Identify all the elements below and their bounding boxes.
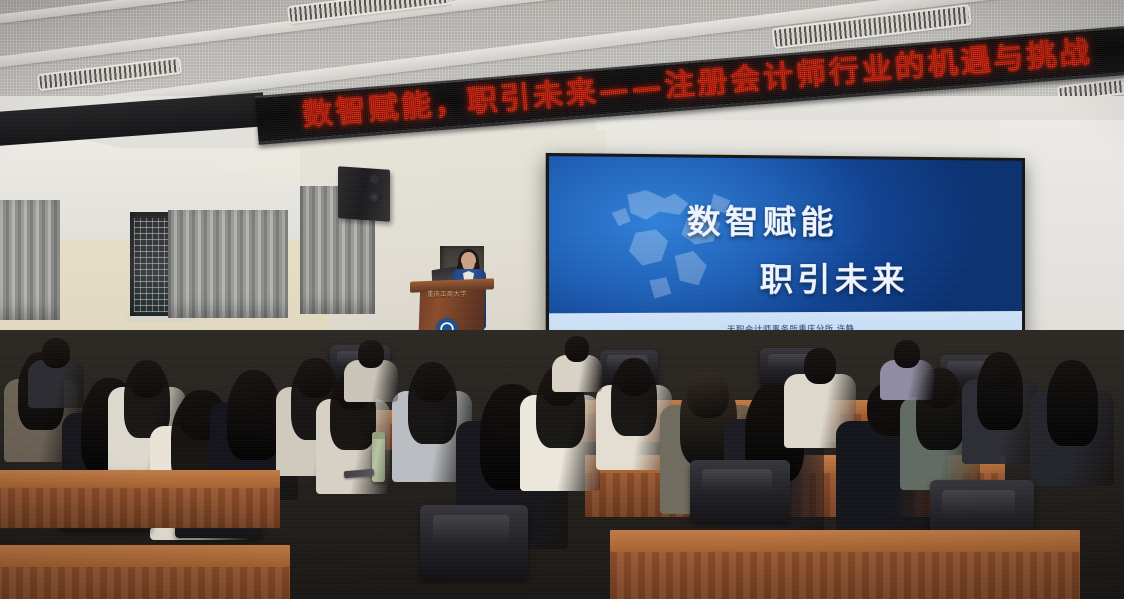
attendee-6-head xyxy=(234,370,274,414)
attendee-18-head xyxy=(983,352,1017,390)
slide-title-line2: 职引未来 xyxy=(640,253,1022,301)
lecture-hall-photo: 数智赋能，职引未来——注册会计师行业的机遇与挑战 数智赋能 职引未来 xyxy=(0,0,1124,599)
slide-title-line1: 数智赋能 xyxy=(549,194,1022,244)
attendee-22-head xyxy=(894,340,920,368)
attendee-9-head xyxy=(414,362,450,402)
attendee-22 xyxy=(880,340,934,400)
attendee-3-head xyxy=(42,338,70,368)
attendee-15-head xyxy=(804,348,836,384)
slide-title-block: 数智赋能 职引未来 xyxy=(549,194,1022,301)
attendee-20-head xyxy=(358,340,384,368)
curtain xyxy=(168,210,288,318)
chair-4 xyxy=(690,460,790,522)
attendee-12-head xyxy=(617,358,651,396)
attendee-3 xyxy=(28,338,84,408)
wall-speaker-icon xyxy=(338,166,390,222)
attendee-13-head xyxy=(687,372,729,418)
curtain xyxy=(0,200,60,320)
desk-row-front-left-top xyxy=(0,545,290,567)
desk-row-front-right-top xyxy=(610,530,1080,552)
desk-row-front-right xyxy=(610,552,1080,599)
podium-plaque-text: 重庆工商大学 xyxy=(422,289,472,298)
desk-row-mid-left xyxy=(0,488,280,528)
attendee-19-head xyxy=(1053,360,1091,402)
attendee-21 xyxy=(552,336,602,392)
desk-row-mid-left-top xyxy=(0,470,280,488)
attendee-19 xyxy=(1030,360,1114,486)
desk-row-front-left xyxy=(0,567,290,599)
chair-3 xyxy=(420,505,528,579)
attendee-18 xyxy=(962,352,1038,464)
attendee-21-head xyxy=(565,336,589,362)
attendee-20 xyxy=(344,340,398,402)
